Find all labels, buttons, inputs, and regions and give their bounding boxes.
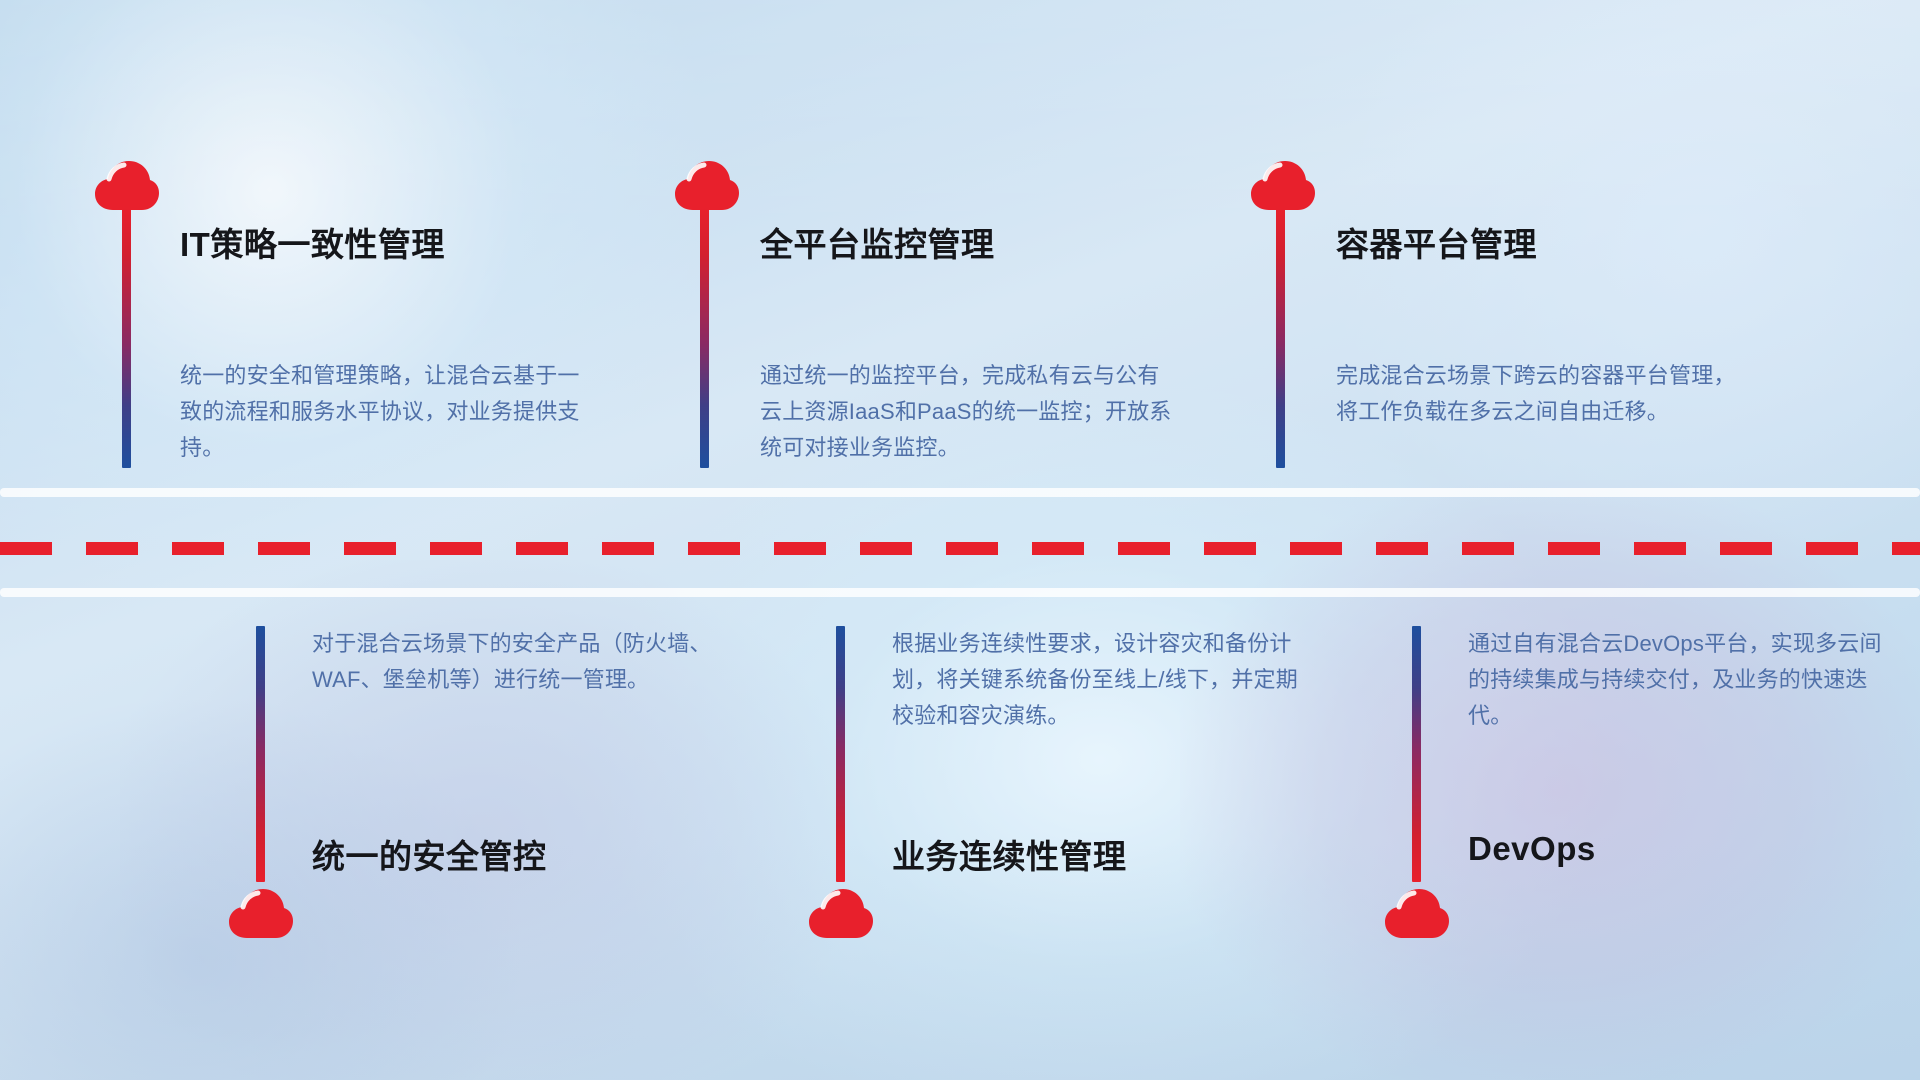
- section-heading: 业务连续性管理: [892, 830, 1127, 878]
- section-body: 对于混合云场景下的安全产品（防火墙、WAF、堡垒机等）进行统一管理。: [312, 626, 732, 698]
- cloud-icon: [1250, 160, 1316, 212]
- divider-rail-bottom: [0, 588, 1920, 597]
- section-heading: 统一的安全管控: [312, 830, 547, 878]
- section-heading: 容器平台管理: [1336, 218, 1537, 266]
- timeline-stem: [256, 626, 265, 882]
- section-body: 统一的安全和管理策略，让混合云基于一致的流程和服务水平协议，对业务提供支持。: [180, 358, 600, 466]
- cloud-icon: [228, 888, 294, 940]
- timeline-stem: [122, 208, 131, 468]
- cloud-icon: [674, 160, 740, 212]
- section-heading: DevOps: [1468, 830, 1596, 868]
- cloud-icon: [94, 160, 160, 212]
- timeline-stem: [700, 208, 709, 468]
- section-heading: 全平台监控管理: [760, 218, 995, 266]
- section-body: 根据业务连续性要求，设计容灾和备份计划，将关键系统备份至线上/线下，并定期校验和…: [892, 626, 1312, 734]
- section-body: 完成混合云场景下跨云的容器平台管理，将工作负载在多云之间自由迁移。: [1336, 358, 1756, 430]
- divider-rail-top: [0, 488, 1920, 497]
- section-body: 通过自有混合云DevOps平台，实现多云间的持续集成与持续交付，及业务的快速迭代…: [1468, 626, 1888, 734]
- cloud-icon: [1384, 888, 1450, 940]
- timeline-stem: [1276, 208, 1285, 468]
- timeline-stem: [836, 626, 845, 882]
- infographic-canvas: IT策略一致性管理 统一的安全和管理策略，让混合云基于一致的流程和服务水平协议，…: [0, 0, 1920, 1080]
- section-heading: IT策略一致性管理: [180, 218, 445, 266]
- dashed-timeline-line: [0, 542, 1920, 555]
- timeline-stem: [1412, 626, 1421, 882]
- cloud-icon: [808, 888, 874, 940]
- section-body: 通过统一的监控平台，完成私有云与公有云上资源IaaS和PaaS的统一监控；开放系…: [760, 358, 1180, 466]
